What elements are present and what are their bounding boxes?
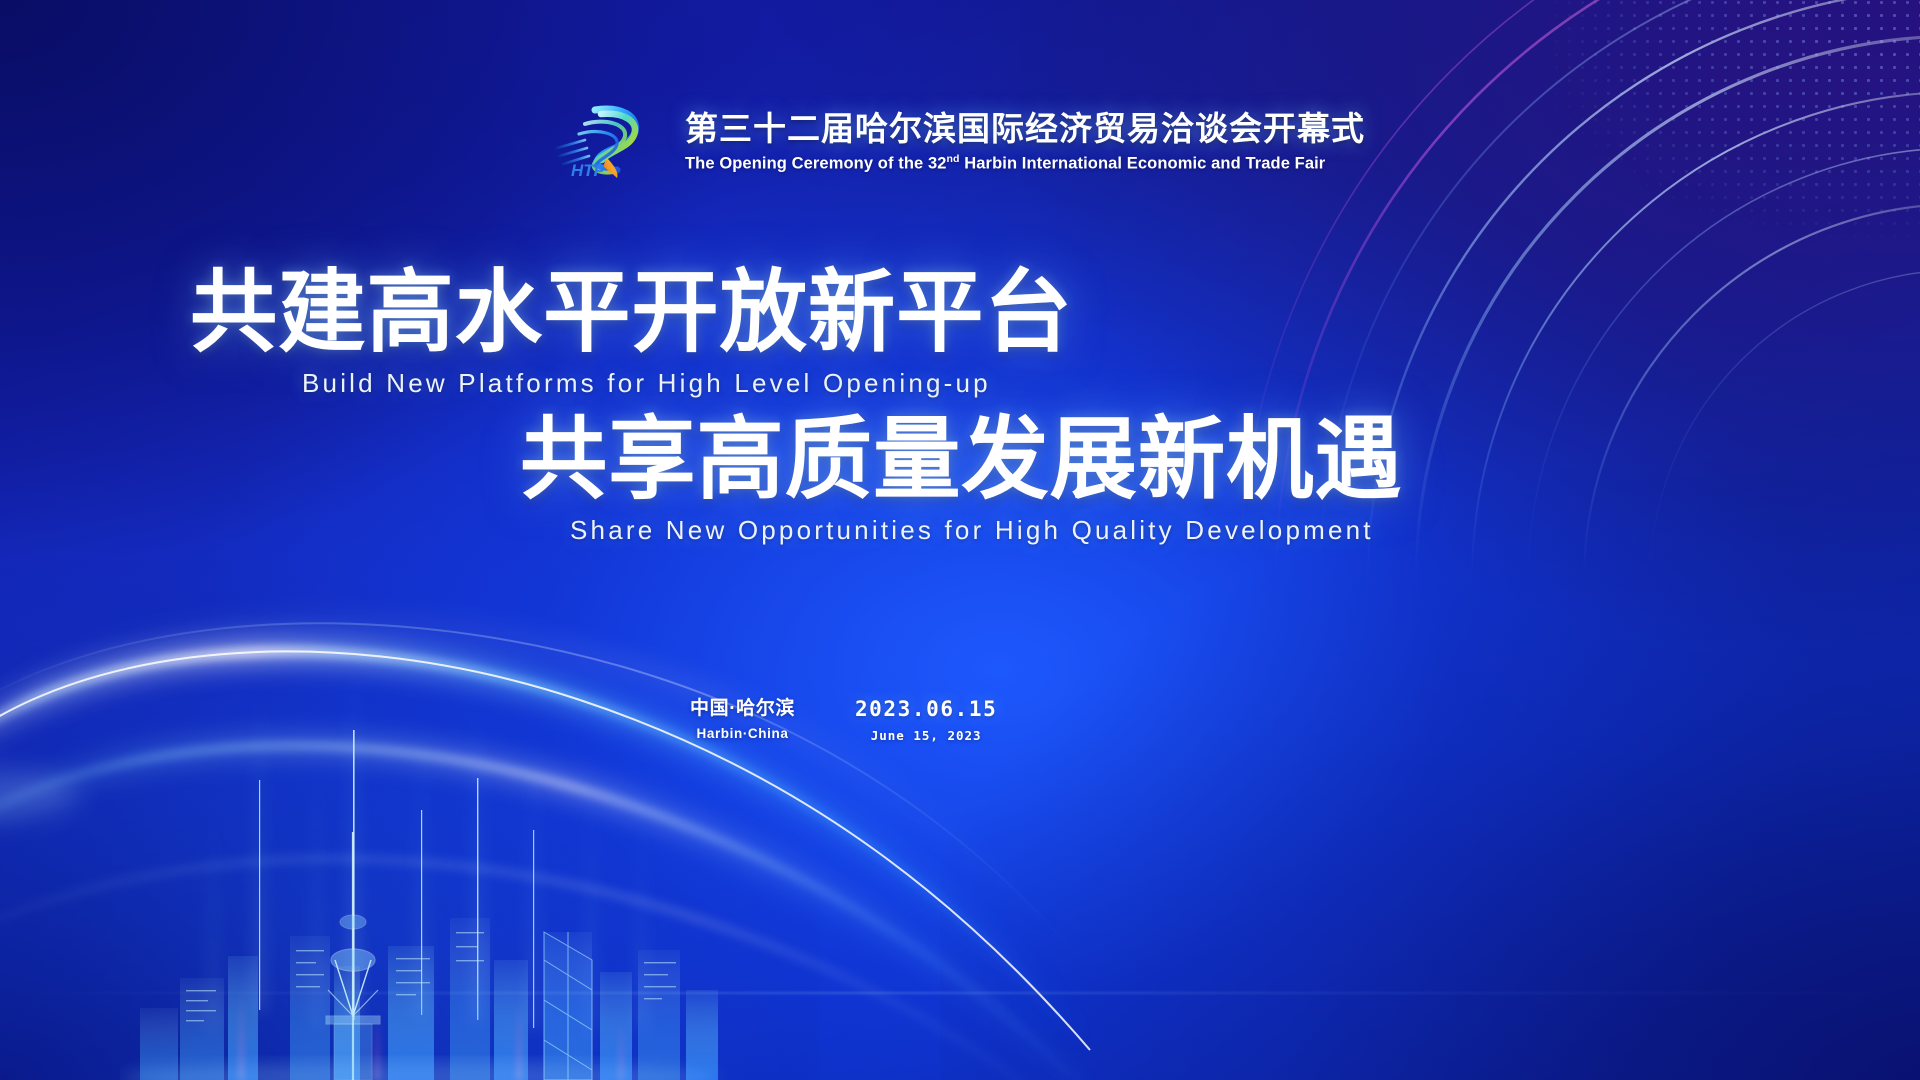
date-en: June 15, 2023: [871, 728, 982, 743]
event-title-en-pre: The Opening Ceremony of the 32: [685, 154, 947, 172]
event-header: HTF 第三十二届哈尔滨国际经济贸易洽谈会开幕式 The Opening Cer…: [0, 104, 1920, 180]
horizon-glow-line: [0, 992, 1920, 994]
location-en: Harbin·China: [696, 726, 788, 741]
slogan-block-2: 共享高质量发展新机遇 Share New Opportunities for H…: [520, 415, 1430, 546]
slogan-2-cn: 共享高质量发展新机遇: [520, 415, 1403, 505]
event-title-en: The Opening Ceremony of the 32nd Harbin …: [685, 153, 1325, 175]
slogan-1-cn: 共建高水平开放新平台: [190, 268, 1063, 358]
slogan-1-en: Build New Platforms for High Level Openi…: [302, 368, 1090, 399]
event-location: 中国·哈尔滨 Harbin·China: [690, 696, 795, 741]
banner-stage: HTF 第三十二届哈尔滨国际经济贸易洽谈会开幕式 The Opening Cer…: [0, 0, 1920, 1080]
event-title-cn: 第三十二届哈尔滨国际经济贸易洽谈会开幕式: [685, 110, 1365, 148]
event-date: 2023.06.15 June 15, 2023: [855, 696, 997, 743]
event-title-en-ordinal: nd: [947, 153, 960, 165]
date-numeric: 2023.06.15: [855, 696, 997, 723]
htf-swoosh-logo: HTF: [555, 104, 667, 180]
slogan-2-en: Share New Opportunities for High Quality…: [570, 515, 1430, 546]
logo-wordmark: HTF: [571, 161, 605, 180]
city-skyline-graphic: [120, 660, 740, 1080]
event-meta: 中国·哈尔滨 Harbin·China 2023.06.15 June 15, …: [690, 696, 997, 743]
slogan-block-1: 共建高水平开放新平台 Build New Platforms for High …: [190, 268, 1090, 399]
location-cn: 中国·哈尔滨: [690, 696, 795, 722]
event-title-en-post: Harbin International Economic and Trade …: [960, 154, 1326, 172]
